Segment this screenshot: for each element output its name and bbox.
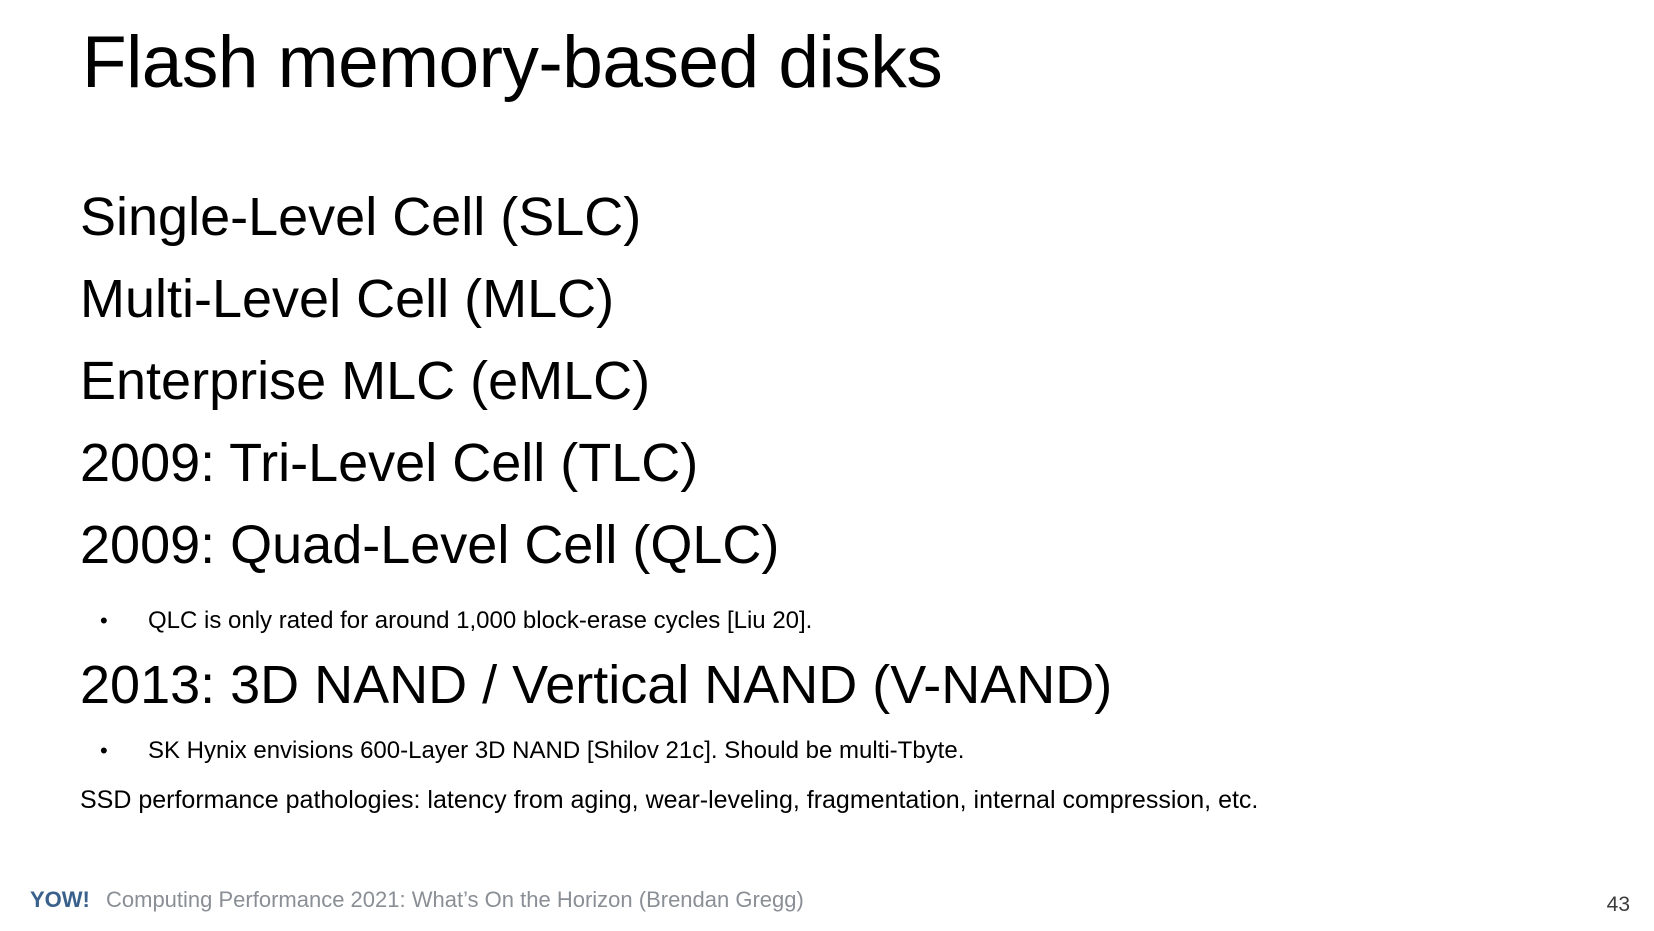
sub-bullet-qlc-cycles-text: QLC is only rated for around 1,000 block… bbox=[148, 604, 1600, 638]
footer-subtitle: Computing Performance 2021: What’s On th… bbox=[106, 887, 804, 913]
spacer bbox=[80, 586, 1600, 596]
slide-footer: YOW! Computing Performance 2021: What’s … bbox=[0, 869, 1654, 931]
sub-bullet-sk-hynix: • SK Hynix envisions 600-Layer 3D NAND [… bbox=[80, 734, 1600, 768]
bullet-level1-tlc: 2009: Tri-Level Cell (TLC) bbox=[80, 422, 1600, 504]
bullet-level1-slc: Single-Level Cell (SLC) bbox=[80, 176, 1600, 258]
bullet-dot-icon: • bbox=[80, 734, 148, 768]
page-number: 43 bbox=[1607, 893, 1630, 917]
sub-bullet-sk-hynix-text: SK Hynix envisions 600-Layer 3D NAND [Sh… bbox=[148, 734, 1600, 768]
slide-body: Single-Level Cell (SLC) Multi-Level Cell… bbox=[80, 176, 1600, 818]
bullet-dot-icon: • bbox=[80, 604, 148, 638]
ssd-pathologies-line: SSD performance pathologies: latency fro… bbox=[80, 782, 1600, 818]
slide: Flash memory-based disks Single-Level Ce… bbox=[0, 0, 1654, 931]
bullet-level1-emlc: Enterprise MLC (eMLC) bbox=[80, 340, 1600, 422]
sub-bullet-qlc-cycles: • QLC is only rated for around 1,000 blo… bbox=[80, 604, 1600, 638]
bullet-level1-qlc: 2009: Quad-Level Cell (QLC) bbox=[80, 504, 1600, 586]
yow-brand-logo: YOW! bbox=[30, 887, 90, 913]
bullet-level1-3d-nand: 2013: 3D NAND / Vertical NAND (V-NAND) bbox=[80, 644, 1600, 726]
bullet-level1-mlc: Multi-Level Cell (MLC) bbox=[80, 258, 1600, 340]
page-title: Flash memory-based disks bbox=[82, 22, 942, 104]
